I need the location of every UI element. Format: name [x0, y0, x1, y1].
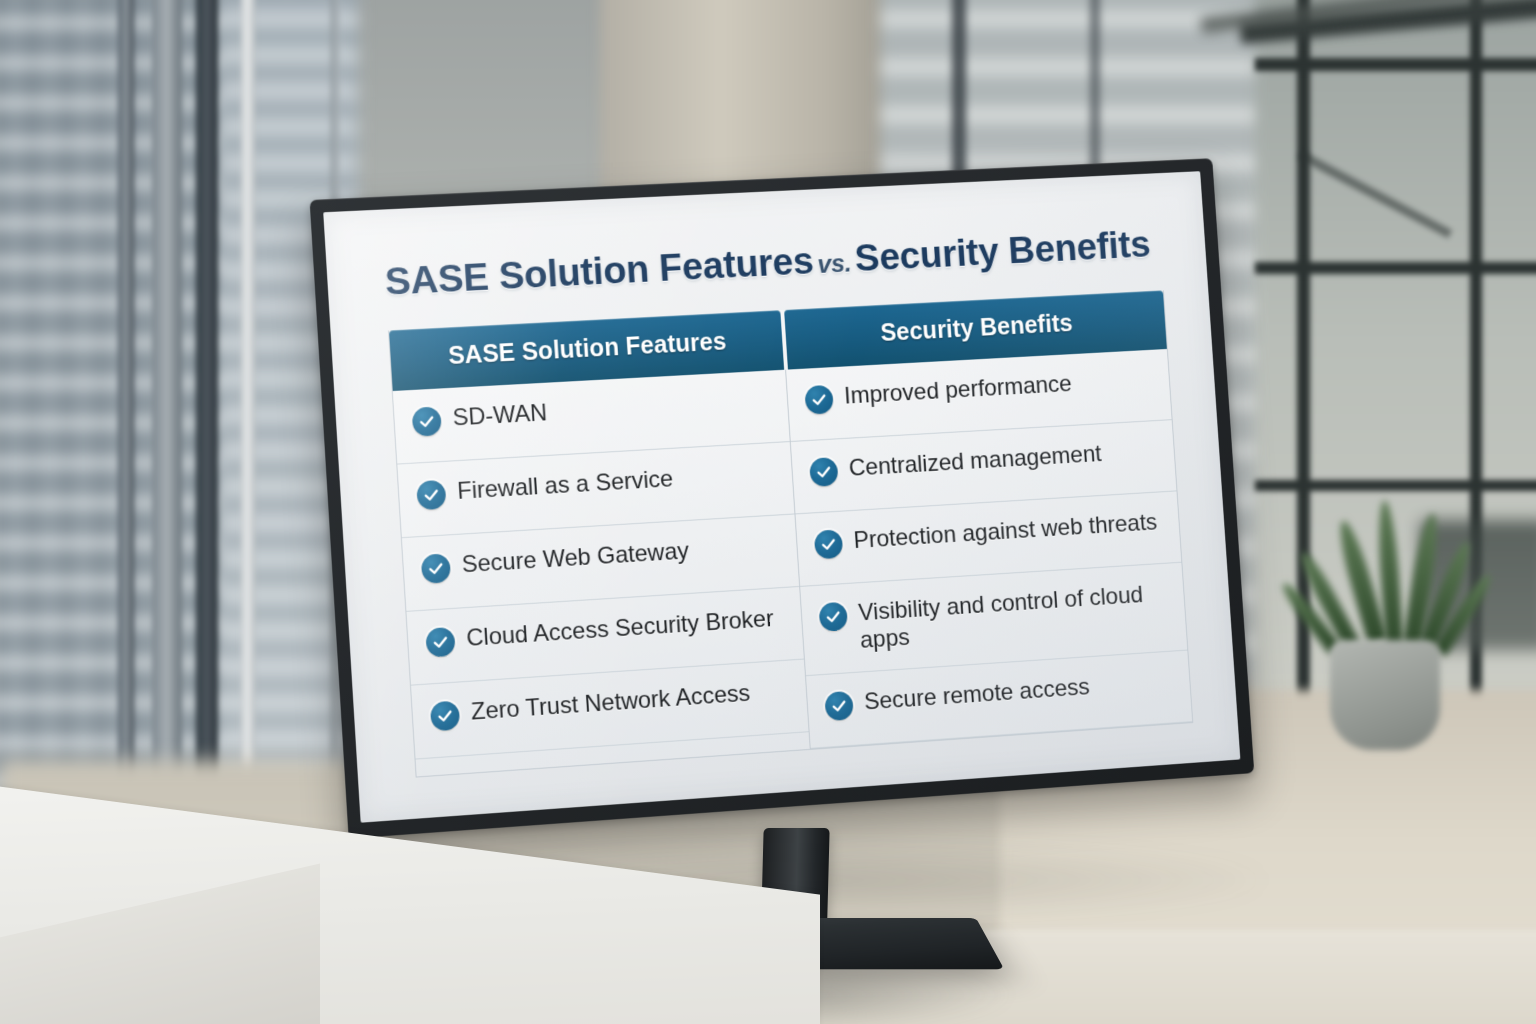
- check-circle-icon: [814, 529, 844, 559]
- partition-mullion: [1255, 58, 1536, 71]
- table-cell-label: Secure remote access: [863, 673, 1090, 716]
- table-cell-label: Centralized management: [848, 441, 1102, 483]
- slide-title: SASE Solution Featuresvs.Security Benefi…: [384, 223, 1157, 304]
- check-circle-icon: [416, 480, 446, 510]
- partition-mullion: [1255, 262, 1536, 274]
- table-cell-label: Improved performance: [843, 371, 1072, 411]
- table-column-security-benefits: Improved performance Centralized managem…: [786, 349, 1192, 749]
- table-cell-label: Cloud Access Security Broker: [466, 605, 775, 652]
- check-circle-icon: [824, 690, 854, 720]
- check-circle-icon: [809, 457, 839, 487]
- table-cell-label: Firewall as a Service: [456, 466, 673, 506]
- monitor: SASE Solution Featuresvs.Security Benefi…: [310, 142, 1310, 898]
- table-column-sase-features: SD-WAN Firewall as a Service: [393, 370, 811, 777]
- partition-mullion: [1255, 480, 1536, 491]
- table-cell-label: Protection against web threats: [853, 509, 1158, 555]
- monitor-bezel: SASE Solution Featuresvs.Security Benefi…: [310, 158, 1255, 839]
- check-circle-icon: [421, 553, 451, 584]
- table-body: SD-WAN Firewall as a Service: [393, 349, 1192, 776]
- slide-title-part-one: SASE Solution Features: [384, 240, 815, 304]
- slide-title-part-two: Security Benefits: [853, 224, 1151, 280]
- check-circle-icon: [412, 406, 442, 436]
- presentation-slide: SASE Solution Featuresvs.Security Benefi…: [323, 171, 1240, 823]
- check-circle-icon: [430, 701, 460, 732]
- table-cell-label: Zero Trust Network Access: [470, 680, 751, 726]
- table-cell-label: Visibility and control of cloud apps: [858, 580, 1174, 654]
- plant-pot: [1330, 640, 1440, 750]
- partition-mullion: [1470, 0, 1482, 800]
- table-cell-label: Secure Web Gateway: [461, 538, 690, 580]
- slide-title-vs: vs.: [813, 248, 856, 279]
- check-circle-icon: [425, 627, 455, 658]
- comparison-table: SASE Solution Features Security Benefits…: [388, 290, 1193, 777]
- check-circle-icon: [819, 602, 849, 632]
- check-circle-icon: [804, 385, 833, 415]
- table-cell-label: SD-WAN: [452, 400, 548, 433]
- monitor-screen: SASE Solution Featuresvs.Security Benefi…: [323, 171, 1240, 823]
